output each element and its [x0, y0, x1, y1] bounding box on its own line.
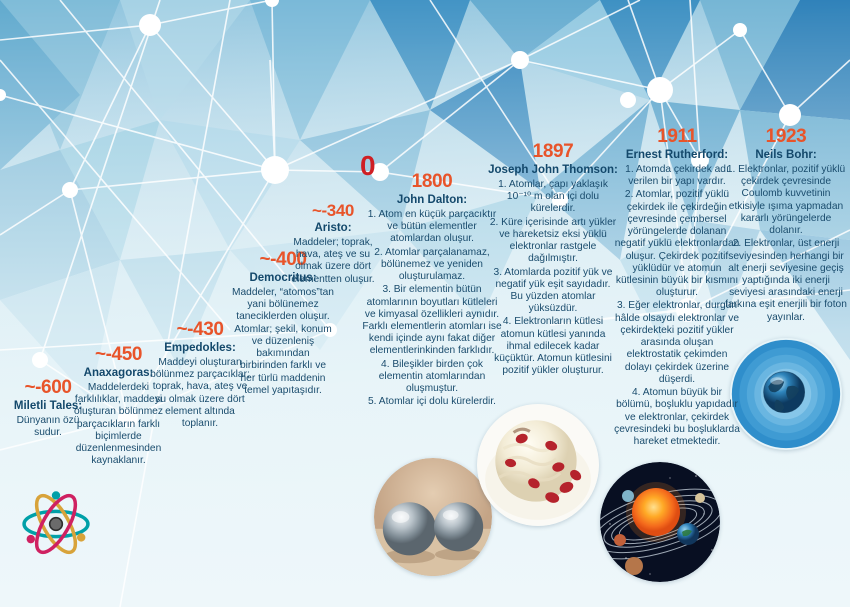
globe-rings-photo	[730, 338, 842, 450]
entry-body-line: 1. Elektronlar, pozitif yüklü çekirdek ç…	[724, 164, 848, 237]
infographic-canvas: 0 ~-600 Miletli Tales: Dünyanın özü sudu…	[0, 0, 850, 607]
entry-body-line: 2. Atomlar, pozitif yüklü çekirdek ile ç…	[614, 189, 740, 299]
entry-body-line: 1. Atom en küçük parçacıktır ve bütün el…	[362, 209, 502, 246]
entry-body-line: 3. Eğer elektronlar, durgun hâlde olsayd…	[614, 300, 740, 386]
entry-body-line: 5. Atomlar içi dolu kürelerdir.	[362, 396, 502, 408]
entry-year: 1911	[614, 127, 740, 146]
entry-person: John Dalton:	[362, 194, 502, 207]
entry-year: 1800	[362, 172, 502, 191]
ice-cream-photo	[477, 404, 599, 526]
timeline-entry-bohr[interactable]: 1923 Neils Bohr: 1. Elektronlar, pozitif…	[724, 127, 848, 325]
entry-body-line: 3. Atomlarda pozitif yük ve negatif yük …	[488, 267, 618, 316]
entry-body-line: 1. Atomda çekirdek adı verilen bir yapı …	[614, 164, 740, 188]
entry-body-line: 4. Atomun büyük bir bölümü, boşluklu yap…	[614, 387, 740, 448]
entry-body-line: 2. Elektronlar, üst enerji seviyesinden …	[724, 238, 848, 324]
entry-body-line: 4. Bileşikler birden çok elementin atoml…	[362, 359, 502, 396]
entry-person: Joseph John Thomson:	[488, 164, 618, 177]
entry-body: Maddeler, “atomos”tan yani bölünemez tan…	[232, 287, 334, 397]
entry-body: 1. Atomda çekirdek adı verilen bir yapı …	[614, 164, 740, 448]
entry-body-line: 4. Elektronların kütlesi atomun kütlesi …	[488, 316, 618, 377]
entry-body-line: 2. Atomlar parçalanamaz, bölünemez ve ye…	[362, 247, 502, 284]
timeline-entry-thomson[interactable]: 1897 Joseph John Thomson: 1. Atomlar, ça…	[488, 142, 618, 379]
entry-body-line: 2. Küre içerisinde artı yükler ve hareke…	[488, 217, 618, 266]
entry-body: 1. Atom en küçük parçacıktır ve bütün el…	[362, 209, 502, 409]
entry-person: Ernest Rutherford:	[614, 149, 740, 162]
entry-body: 1. Elektronlar, pozitif yüklü çekirdek ç…	[724, 164, 848, 324]
entry-body-line: 3. Bir elementin bütün atomlarının boyut…	[362, 284, 502, 357]
metal-spheres-photo	[374, 458, 492, 576]
solar-system-photo	[600, 462, 720, 582]
atom-logo-icon	[14, 482, 98, 566]
timeline-entry-rutherford[interactable]: 1911 Ernest Rutherford: 1. Atomda çekird…	[614, 127, 740, 449]
entry-body-line: 1. Atomlar, çapı yaklaşık 10⁻¹⁰ m olan i…	[488, 179, 618, 216]
entry-body-line: Maddeler, “atomos”tan yani bölünemez tan…	[232, 287, 334, 397]
entry-year: 1923	[724, 127, 848, 146]
entry-person: Neils Bohr:	[724, 149, 848, 162]
entry-year: 1897	[488, 142, 618, 161]
timeline-entry-dalton[interactable]: 1800 John Dalton: 1. Atom en küçük parça…	[362, 172, 502, 410]
entry-body: 1. Atomlar, çapı yaklaşık 10⁻¹⁰ m olan i…	[488, 179, 618, 378]
